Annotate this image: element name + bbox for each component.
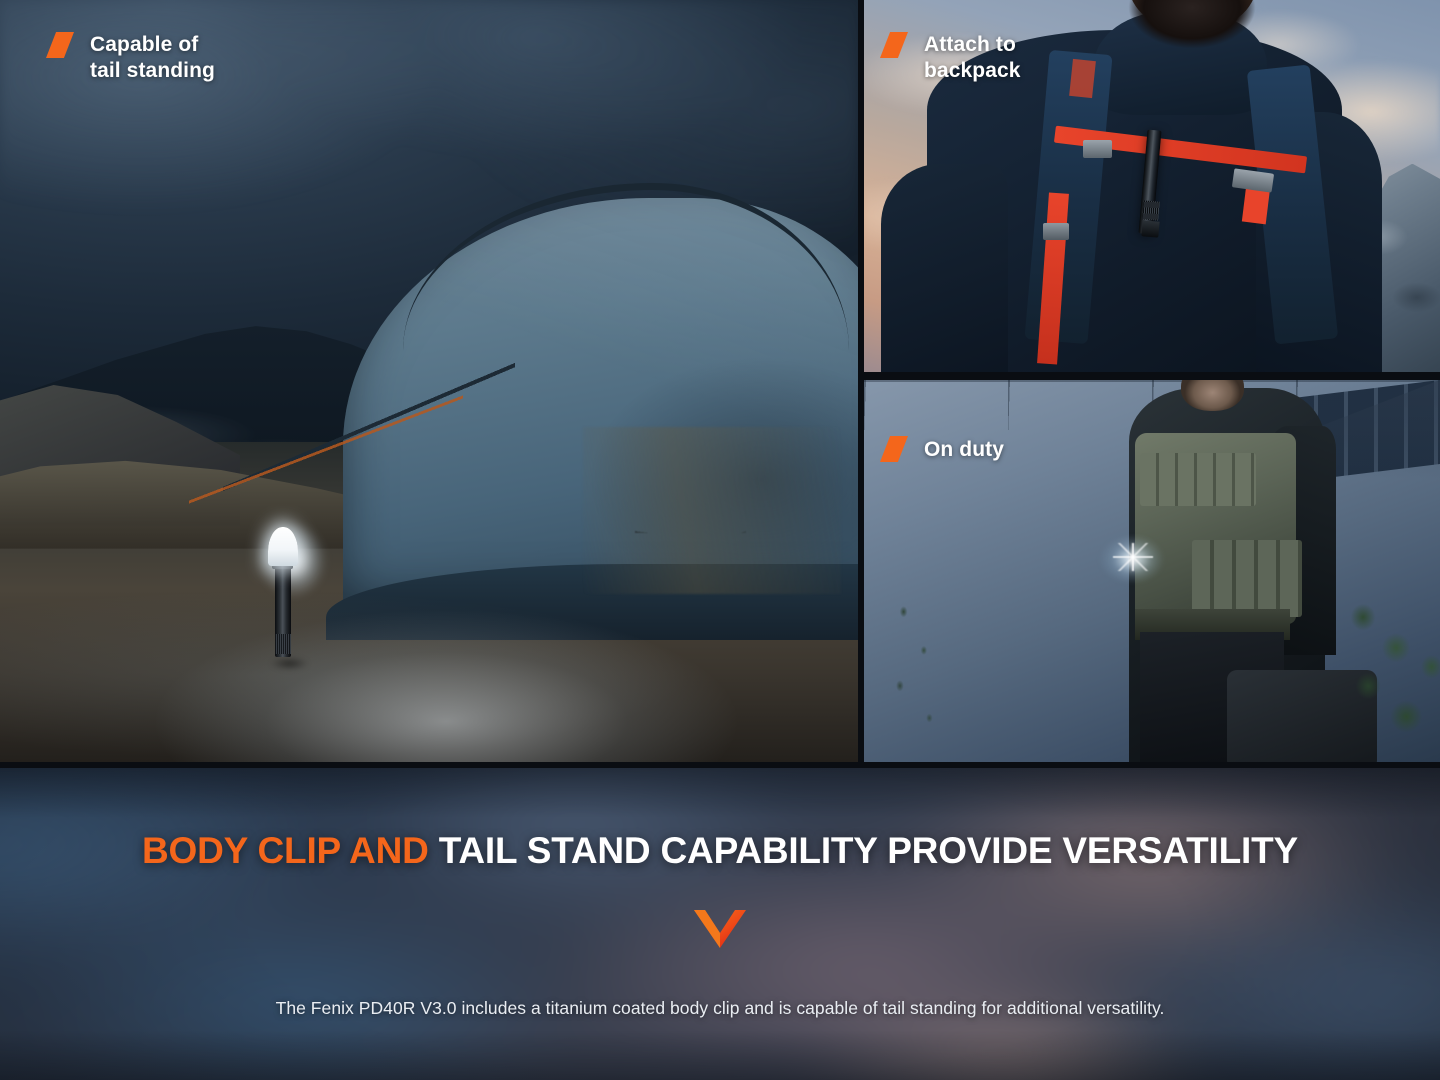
chevron-down-icon <box>691 908 749 950</box>
vest-mag-pouches <box>1140 453 1255 506</box>
headline-highlight: BODY CLIP AND <box>142 830 429 871</box>
strap-buckle-upper <box>1083 140 1112 159</box>
photo-grid: Capable of tail standing Attach to backp… <box>0 0 1440 768</box>
headline-rest: TAIL STAND CAPABILITY PROVIDE VERSATILIT… <box>429 830 1298 871</box>
banner-content: BODY CLIP AND TAIL STAND CAPABILITY PROV… <box>0 768 1440 1080</box>
panel-on-duty <box>864 380 1440 762</box>
flashlight-knurling <box>275 634 292 654</box>
banner-subtext: The Fenix PD40R V3.0 includes a titanium… <box>276 998 1165 1019</box>
strap-buckle-lower <box>1043 223 1069 239</box>
banner-headline: BODY CLIP AND TAIL STAND CAPABILITY PROV… <box>142 830 1298 872</box>
flashlight-pool-of-light <box>0 472 858 762</box>
clipped-flashlight-knurling <box>1142 200 1159 221</box>
flashlight-shadow <box>262 655 318 672</box>
red-webbing-top <box>1069 58 1096 97</box>
feature-banner: BODY CLIP AND TAIL STAND CAPABILITY PROV… <box>0 768 1440 1080</box>
hiker-arm-left <box>881 164 1008 372</box>
product-feature-page: Capable of tail standing Attach to backp… <box>0 0 1440 1080</box>
panel-tail-standing <box>0 0 858 762</box>
panel-attach-to-backpack <box>864 0 1440 372</box>
flashlight-beam-starburst <box>1113 543 1153 571</box>
vest-lower-pouches <box>1192 540 1301 616</box>
foliage <box>1325 579 1440 762</box>
flashlight-diffuser <box>268 527 298 567</box>
wall-vines <box>876 586 968 746</box>
clipped-flashlight-tailcap <box>1141 221 1160 238</box>
